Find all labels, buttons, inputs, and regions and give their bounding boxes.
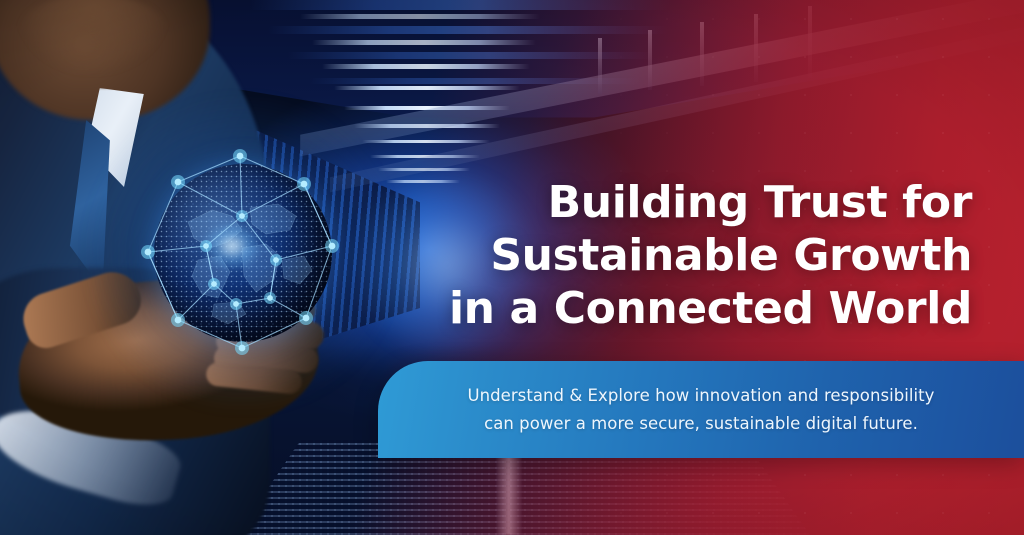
subtitle-banner: Understand & Explore how innovation and …	[378, 361, 1024, 458]
subtitle-line-2: can power a more secure, sustainable dig…	[467, 410, 934, 438]
hero-banner: Building Trust for Sustainable Growth in…	[0, 0, 1024, 535]
headline-line-2: Sustainable Growth	[332, 229, 972, 282]
headline-line-1: Building Trust for	[332, 176, 972, 229]
headline-line-3: in a Connected World	[332, 282, 972, 335]
subtitle-line-1: Understand & Explore how innovation and …	[467, 382, 934, 410]
page-title: Building Trust for Sustainable Growth in…	[332, 176, 972, 335]
subtitle-text: Understand & Explore how innovation and …	[437, 382, 964, 438]
